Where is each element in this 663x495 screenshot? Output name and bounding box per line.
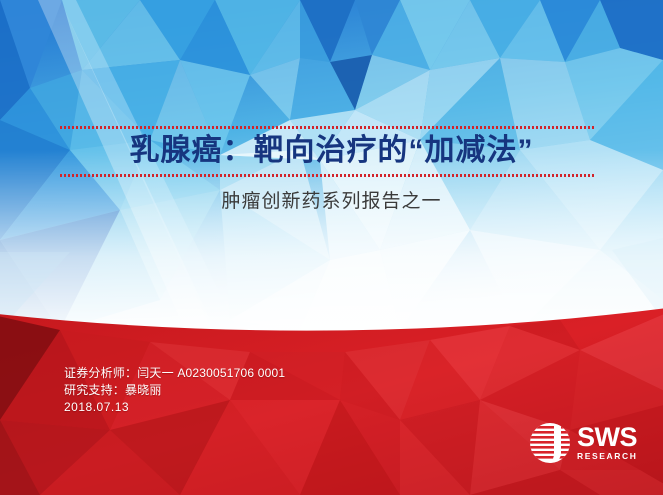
page-title: 乳腺癌：靶向治疗的“加减法” bbox=[0, 131, 663, 171]
analyst-line: 证券分析师：闫天一 A0230051706 0001 bbox=[64, 365, 285, 382]
sws-research-logo: SWS RESEARCH bbox=[528, 415, 653, 470]
report-date: 2018.07.13 bbox=[64, 399, 285, 416]
logo-wordmark: SWS RESEARCH bbox=[577, 424, 638, 462]
top-polygon-field bbox=[0, 0, 663, 345]
sws-circle-mark-icon bbox=[528, 421, 572, 465]
title-rule-bottom bbox=[60, 174, 596, 177]
title-rule-top bbox=[60, 126, 596, 129]
report-cover-slide: 乳腺癌：靶向治疗的“加减法” 肿瘤创新药系列报告之一 证券分析师：闫天一 A02… bbox=[0, 0, 663, 495]
page-subtitle: 肿瘤创新药系列报告之一 bbox=[0, 189, 663, 215]
logo-name: SWS bbox=[577, 424, 638, 450]
credits-block: 证券分析师：闫天一 A0230051706 0001 研究支持：暴晓丽 2018… bbox=[64, 365, 285, 416]
research-support-line: 研究支持：暴晓丽 bbox=[64, 382, 285, 399]
logo-tagline: RESEARCH bbox=[577, 451, 638, 462]
